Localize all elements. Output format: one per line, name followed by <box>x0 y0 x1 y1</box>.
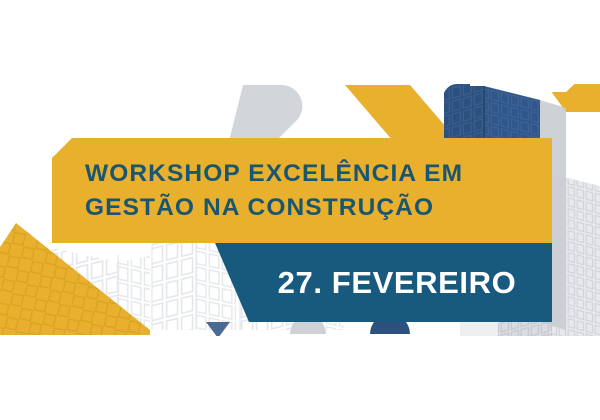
headline-line-2: GESTÃO NA CONSTRUÇÃO <box>85 191 538 225</box>
headline-banner: WORKSHOP EXCELÊNCIA EM GESTÃO NA CONSTRU… <box>52 138 552 243</box>
headline-line-1: WORKSHOP EXCELÊNCIA EM <box>85 157 538 191</box>
event-date-text: 27. FEVEREIRO <box>248 267 552 298</box>
top-white-mask <box>0 0 600 84</box>
date-banner: 27. FEVEREIRO <box>212 243 552 322</box>
event-banner-poster: WORKSHOP EXCELÊNCIA EM GESTÃO NA CONSTRU… <box>0 0 600 420</box>
bottom-white-mask <box>0 336 600 420</box>
